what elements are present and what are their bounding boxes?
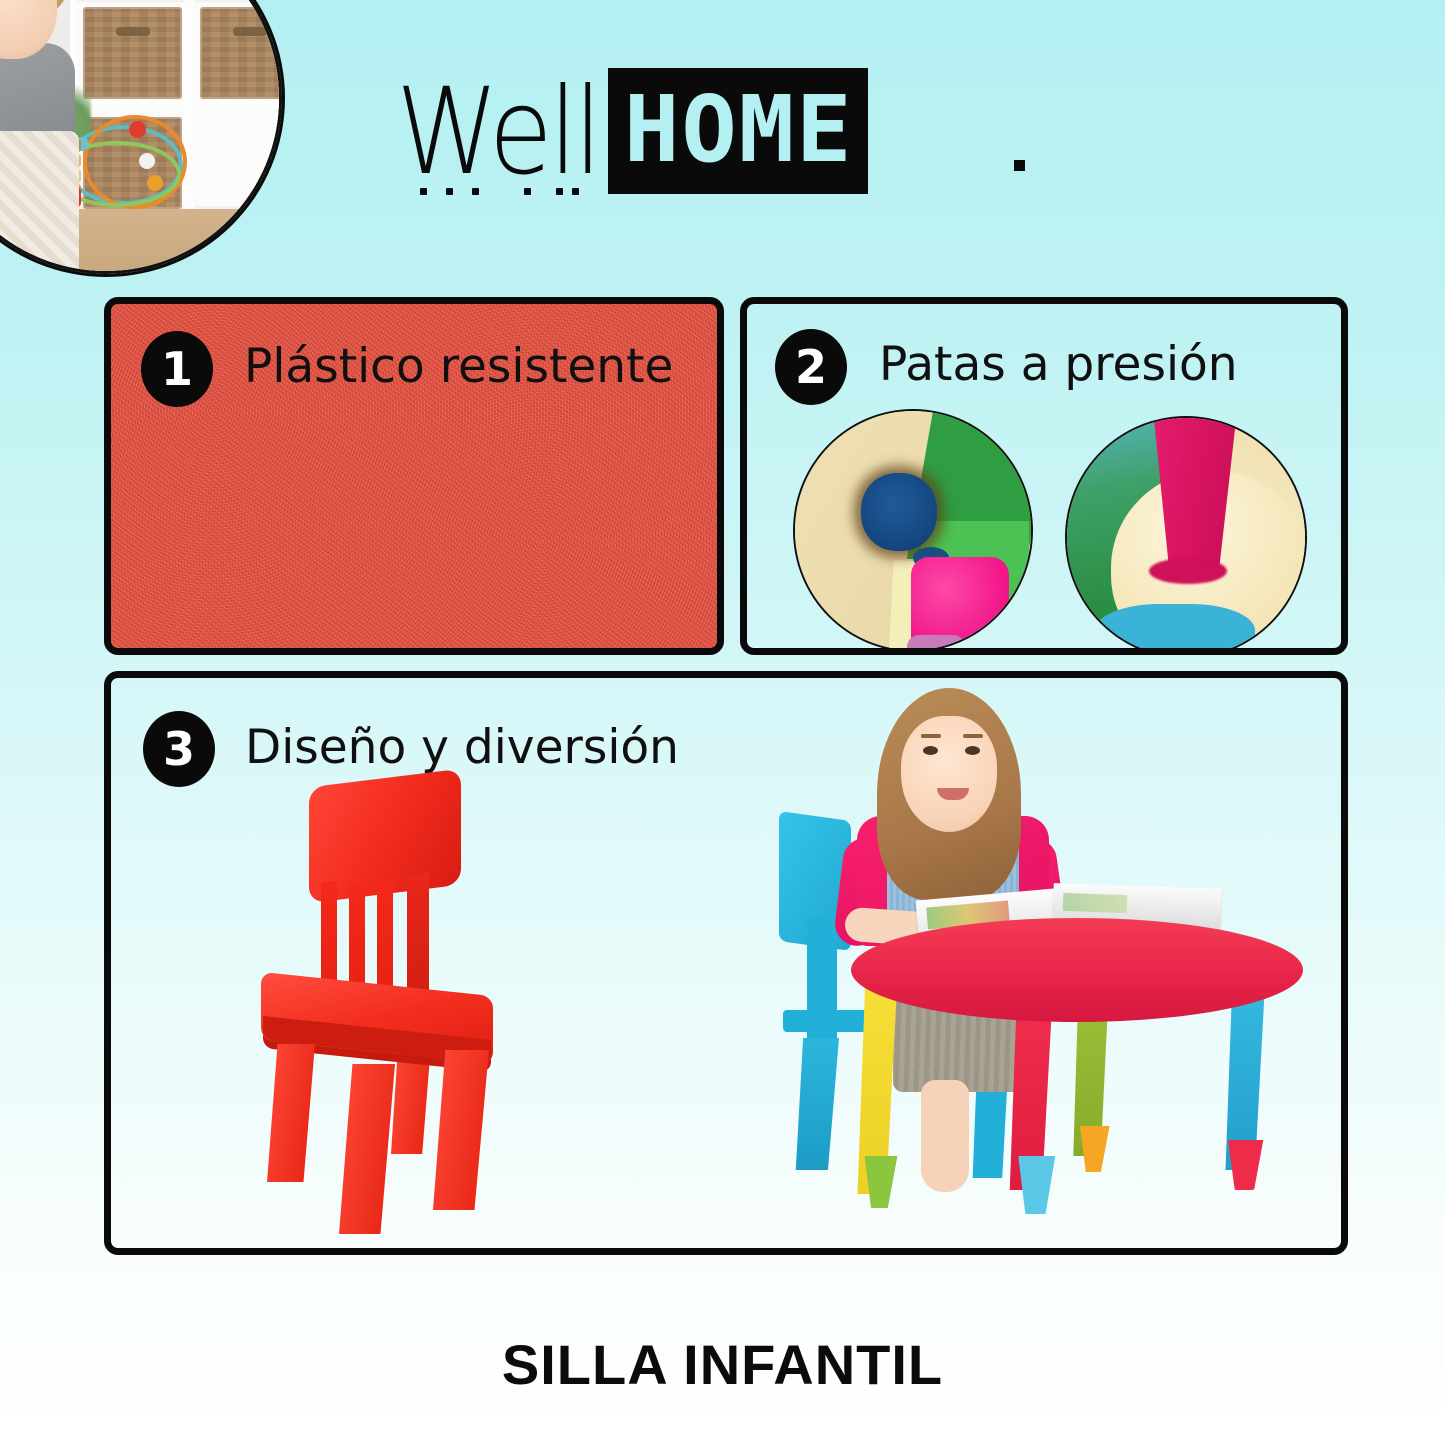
- chair-leg-right: [433, 1050, 489, 1210]
- shelf-divider: [70, 101, 279, 110]
- infographic-page: Well HOME 1 Plástico resistente 2 Patas …: [0, 0, 1445, 1445]
- child-dress: [0, 131, 79, 271]
- chair-leg-back: [391, 1044, 431, 1154]
- logo-well-text: Well: [396, 72, 599, 192]
- feature-title-1: Plástico resistente: [244, 339, 673, 394]
- logo-home-text: HOME: [608, 68, 868, 194]
- bead: [139, 153, 155, 169]
- child-eye: [923, 746, 938, 755]
- step-badge-1: 1: [141, 331, 213, 407]
- red-kids-chair: [261, 778, 591, 1238]
- child-face: [901, 716, 997, 832]
- blue-chair-crossbar: [783, 1010, 875, 1032]
- closeup-seat-socket: [793, 409, 1033, 652]
- child-eyebrow: [963, 734, 983, 738]
- chair-leg-front-left: [267, 1044, 315, 1182]
- feature-panel-2: 2 Patas a presión: [740, 297, 1348, 655]
- storage-basket: [200, 7, 279, 99]
- feature-panel-3: 3 Diseño y diversión: [104, 671, 1348, 1255]
- child-eyebrow: [921, 734, 941, 738]
- child-foot: [921, 1080, 969, 1192]
- pink-leg-foot: [907, 635, 965, 652]
- feature-title-2: Patas a presión: [879, 337, 1238, 392]
- leg-base-shadow: [1149, 558, 1227, 584]
- chair-leg-front: [339, 1064, 395, 1234]
- leg-socket-hole: [861, 473, 937, 551]
- hero-photo-toddler: [0, 0, 282, 274]
- feature-panel-1: 1 Plástico resistente: [104, 297, 724, 655]
- product-name-title: SILLA INFANTIL: [0, 1332, 1445, 1397]
- logo-underline-dots: [420, 188, 580, 196]
- storage-basket: [83, 7, 182, 99]
- bead: [129, 121, 146, 138]
- brand-logo: Well HOME: [396, 62, 1036, 192]
- bead: [147, 175, 163, 191]
- child-eye: [965, 746, 980, 755]
- blue-seat-edge: [1095, 604, 1255, 655]
- lifestyle-photo-girl-at-table: [771, 688, 1341, 1250]
- blue-chair-leg: [793, 1038, 839, 1170]
- step-badge-3: 3: [143, 711, 215, 787]
- closeup-leg-pressed: [1065, 416, 1307, 655]
- logo-dot-icon: [1014, 160, 1025, 171]
- table-top-red: [851, 918, 1303, 1022]
- book-illustration: [1063, 893, 1128, 913]
- basket-handle: [233, 27, 267, 36]
- basket-handle: [116, 27, 150, 36]
- step-badge-2: 2: [775, 329, 847, 405]
- feature-title-3: Diseño y diversión: [245, 720, 679, 775]
- hero-photo-inner: [0, 0, 279, 271]
